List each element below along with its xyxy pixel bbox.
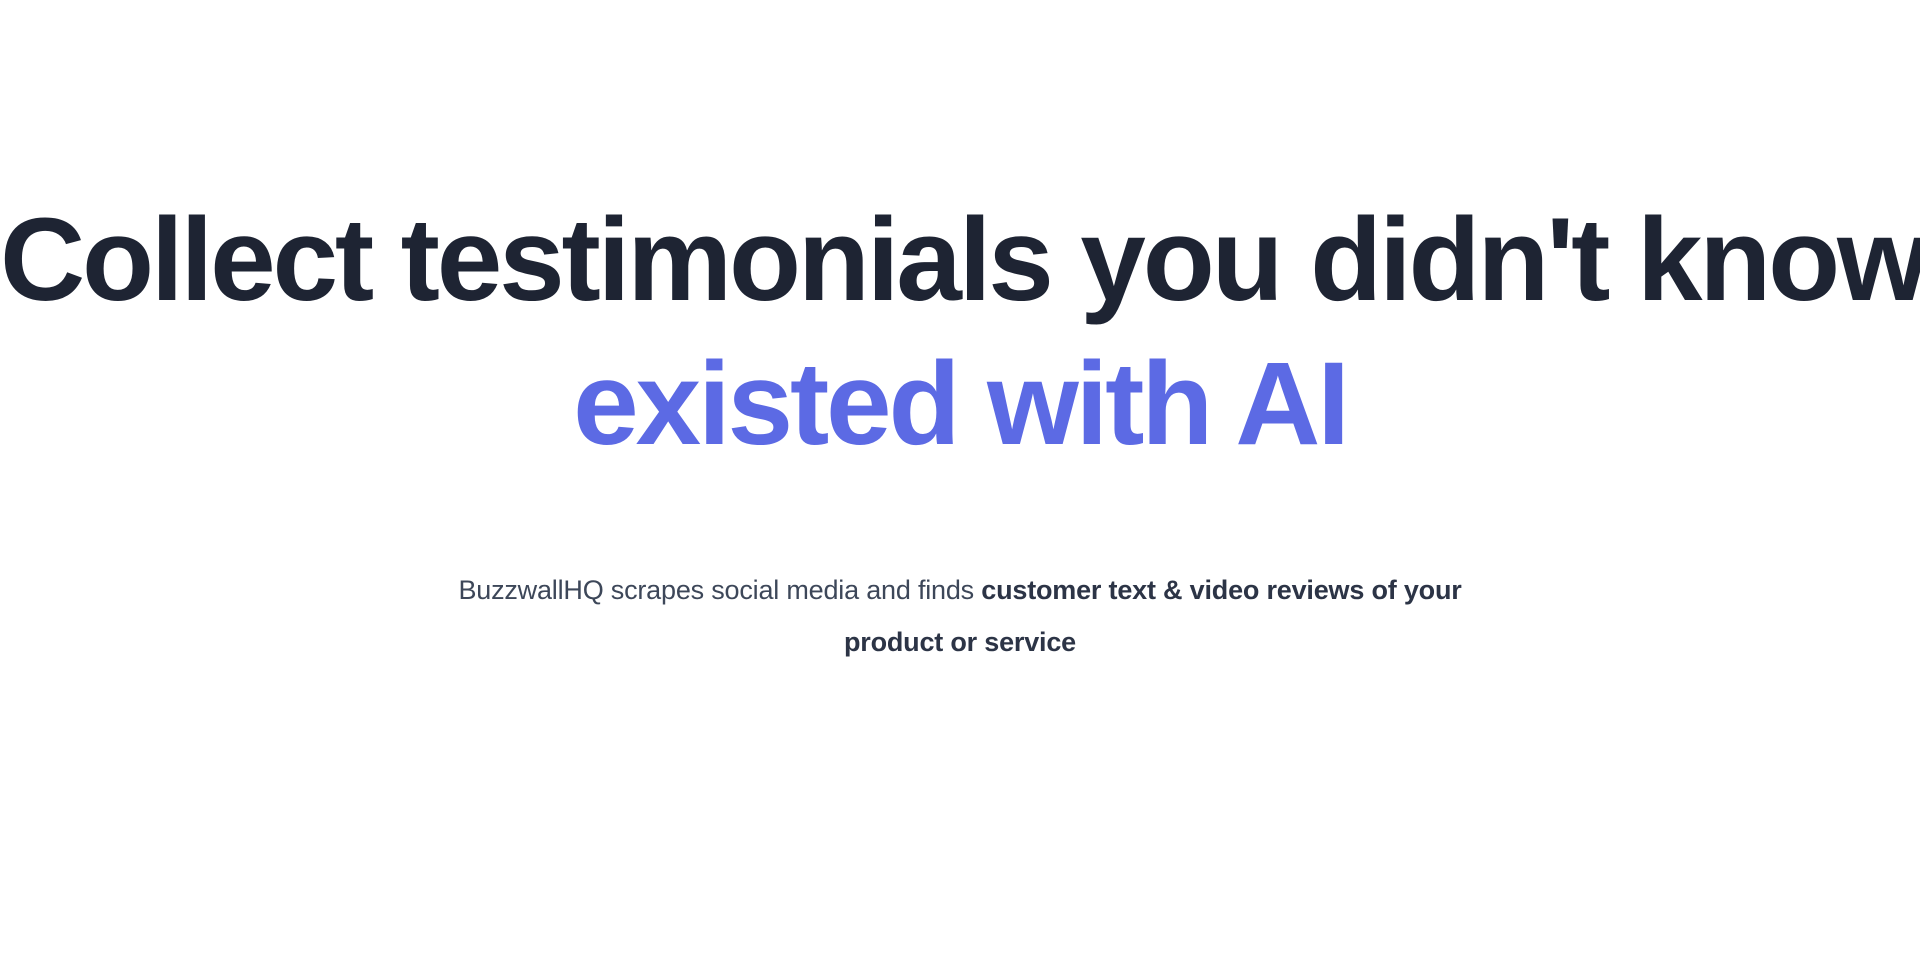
hero-subtitle: BuzzwallHQ scrapes social media and find… bbox=[455, 564, 1465, 668]
page-title: Collect testimonials you didn't know exi… bbox=[0, 0, 1920, 476]
hero-section: Collect testimonials you didn't know exi… bbox=[0, 0, 1920, 960]
subtitle-lead-text: BuzzwallHQ scrapes social media and find… bbox=[458, 575, 981, 605]
headline-line-primary: Collect testimonials you didn't know bbox=[0, 188, 1920, 332]
headline-line-accent: existed with AI bbox=[0, 332, 1920, 476]
